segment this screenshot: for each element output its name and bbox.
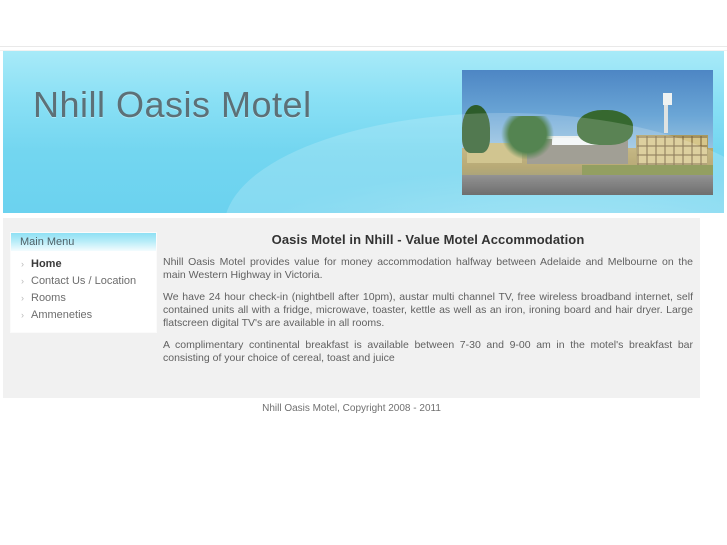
chevron-right-icon: › [21, 290, 24, 306]
chevron-right-icon: › [21, 307, 24, 323]
page-wrapper: Nhill Oasis Motel Main Menu › Home [0, 0, 727, 545]
sidebar-item-home[interactable]: › Home [11, 256, 156, 272]
page-title: Oasis Motel in Nhill - Value Motel Accom… [163, 232, 693, 247]
photo-grass [582, 165, 713, 180]
photo-tree [577, 110, 632, 145]
sidebar-item-label: Contact Us / Location [31, 275, 136, 287]
sidebar-item-rooms[interactable]: › Rooms [11, 290, 156, 306]
photo-lattice-fence [636, 135, 708, 172]
sidebar: Main Menu › Home › Contact Us / Location… [10, 232, 157, 333]
sidebar-item-label: Ammeneties [31, 309, 92, 321]
main-menu-list: › Home › Contact Us / Location › Rooms ›… [11, 251, 156, 326]
photo-tree-left [462, 105, 490, 153]
chevron-right-icon: › [21, 273, 24, 289]
photo-left-wall [467, 143, 522, 163]
photo-sky [462, 70, 713, 153]
photo-ground [462, 148, 713, 196]
sidebar-title: Main Menu [11, 233, 156, 251]
article-paragraph: We have 24 hour check-in (nightbell afte… [163, 291, 693, 330]
site-banner: Nhill Oasis Motel [3, 51, 724, 213]
site-title: Nhill Oasis Motel [33, 84, 312, 126]
photo-palm-tree [500, 116, 555, 161]
sidebar-item-ammeneties[interactable]: › Ammeneties [11, 307, 156, 323]
sidebar-item-label: Rooms [31, 292, 66, 304]
article: Oasis Motel in Nhill - Value Motel Accom… [163, 232, 693, 365]
photo-sign-board [663, 93, 672, 105]
photo-motel-sign [552, 138, 602, 146]
footer-copyright: Nhill Oasis Motel, Copyright 2008 - 2011 [3, 399, 700, 419]
photo-motel-building [527, 136, 627, 164]
article-paragraph: A complimentary continental breakfast is… [163, 339, 693, 365]
article-paragraph: Nhill Oasis Motel provides value for mon… [163, 256, 693, 282]
content-panel: Main Menu › Home › Contact Us / Location… [3, 217, 700, 398]
chevron-right-icon: › [21, 256, 24, 272]
photo-road [462, 175, 713, 195]
motel-exterior-photo [462, 70, 713, 195]
sidebar-item-contact-us-location[interactable]: › Contact Us / Location [11, 273, 156, 289]
sidebar-item-label: Home [31, 258, 62, 270]
